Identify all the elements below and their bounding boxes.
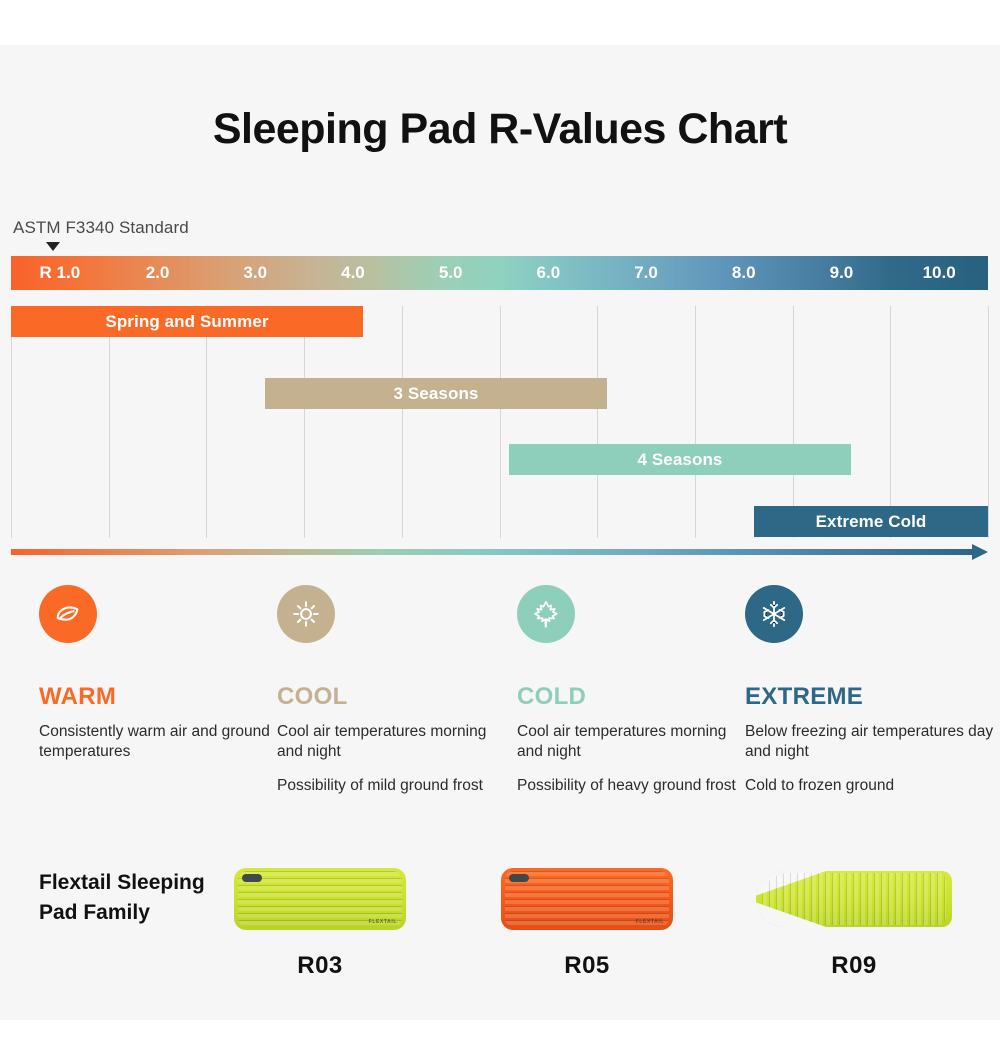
product-card-r05[interactable]: FLEXTAIL R05 xyxy=(467,860,707,980)
scale-tick-8: 9.0 xyxy=(793,256,891,290)
category-description-line: Cool air temperatures morning and night xyxy=(277,722,512,763)
season-band-3[interactable]: Extreme Cold xyxy=(754,506,988,537)
season-band-label: Spring and Summer xyxy=(105,312,268,332)
scale-tick-2: 3.0 xyxy=(206,256,304,290)
scale-tick-9: 10.0 xyxy=(890,256,988,290)
pad-image-r09 xyxy=(734,860,974,938)
category-description-line: Consistently warm air and ground tempera… xyxy=(39,722,274,763)
product-name: R09 xyxy=(734,952,974,980)
arrow-head-icon xyxy=(972,544,988,560)
category-title: COOL xyxy=(277,683,512,711)
gridline xyxy=(500,306,501,538)
pad-valve-icon xyxy=(509,874,529,882)
category-description-line: Cool air temperatures morning and night xyxy=(517,722,752,763)
category-description-line: Cold to frozen ground xyxy=(745,776,995,796)
gridline xyxy=(402,306,403,538)
temperature-axis-arrow xyxy=(11,549,974,555)
leaf-icon xyxy=(39,585,97,643)
season-band-label: Extreme Cold xyxy=(816,512,927,532)
season-band-1[interactable]: 3 Seasons xyxy=(265,378,607,409)
gridline xyxy=(890,306,891,538)
category-card-warm: WARMConsistently warm air and ground tem… xyxy=(39,585,274,763)
category-card-cold: COLDCool air temperatures morning and ni… xyxy=(517,585,752,796)
page-root: Sleeping Pad R-Values Chart ASTM F3340 S… xyxy=(0,0,1000,1045)
scale-tick-5: 6.0 xyxy=(500,256,598,290)
pad-image-r03: FLEXTAIL xyxy=(200,860,440,938)
category-description-line: Below freezing air temperatures day and … xyxy=(745,722,995,763)
pad-image-r05: FLEXTAIL xyxy=(467,860,707,938)
scale-tick-3: 4.0 xyxy=(304,256,402,290)
season-range-plot: Spring and Summer3 Seasons4 SeasonsExtre… xyxy=(11,306,988,538)
product-name: R05 xyxy=(467,952,707,980)
category-description-line: Possibility of mild ground frost xyxy=(277,776,512,796)
pad-brand-logo: FLEXTAIL xyxy=(369,919,397,925)
gridline xyxy=(206,306,207,538)
gridline xyxy=(988,306,989,538)
scale-tick-0: R 1.0 xyxy=(11,256,109,290)
season-band-label: 3 Seasons xyxy=(393,384,478,404)
gridline xyxy=(109,306,110,538)
snowflake-icon xyxy=(745,585,803,643)
gridline xyxy=(695,306,696,538)
scale-tick-4: 5.0 xyxy=(402,256,500,290)
r-value-scale-bar: R 1.02.03.04.05.06.07.08.09.010.0 xyxy=(11,256,988,290)
page-title: Sleeping Pad R-Values Chart xyxy=(0,105,1000,154)
category-description-line: Possibility of heavy ground frost xyxy=(517,776,752,796)
product-card-r09[interactable]: R09 xyxy=(734,860,974,980)
gridline xyxy=(304,306,305,538)
pad-valve-icon xyxy=(242,874,262,882)
category-card-cool: COOLCool air temperatures morning and ni… xyxy=(277,585,512,796)
product-name: R03 xyxy=(200,952,440,980)
scale-tick-1: 2.0 xyxy=(109,256,207,290)
season-band-0[interactable]: Spring and Summer xyxy=(11,306,363,337)
astm-caret-icon xyxy=(46,242,60,251)
category-title: COLD xyxy=(517,683,752,711)
season-band-label: 4 Seasons xyxy=(637,450,722,470)
category-row: WARMConsistently warm air and ground tem… xyxy=(0,585,1000,815)
gridline xyxy=(11,306,12,538)
scale-tick-6: 7.0 xyxy=(597,256,695,290)
season-band-2[interactable]: 4 Seasons xyxy=(509,444,851,475)
gridline xyxy=(597,306,598,538)
astm-standard-label: ASTM F3340 Standard xyxy=(13,218,189,238)
sun-icon xyxy=(277,585,335,643)
category-title: EXTREME xyxy=(745,683,995,711)
category-title: WARM xyxy=(39,683,274,711)
product-card-r03[interactable]: FLEXTAIL R03 xyxy=(200,860,440,980)
gridline xyxy=(793,306,794,538)
maple-leaf-icon xyxy=(517,585,575,643)
pad-brand-logo: FLEXTAIL xyxy=(636,919,664,925)
scale-tick-7: 8.0 xyxy=(695,256,793,290)
category-card-extreme: EXTREMEBelow freezing air temperatures d… xyxy=(745,585,995,796)
